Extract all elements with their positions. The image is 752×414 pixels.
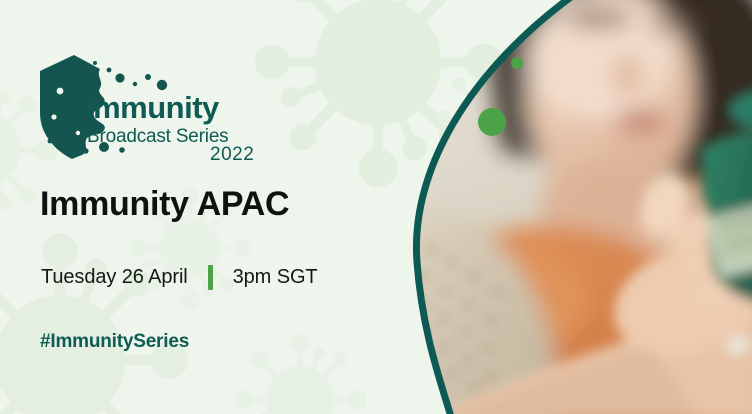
logo-year: 2022 (210, 144, 254, 160)
webinar-promo-banner: Immunity Broadcast Series 2022 Immunity … (0, 0, 752, 414)
event-meta-row: Tuesday 26 April 3pm SGT (41, 262, 318, 292)
logo-wordmark: Immunity (85, 90, 220, 125)
page-title: Immunity APAC (40, 186, 289, 223)
meta-divider (208, 265, 213, 290)
event-time: 3pm SGT (233, 266, 318, 289)
banner-content: Immunity Broadcast Series 2022 Immunity … (0, 0, 752, 414)
logo-subtitle: Broadcast Series (87, 126, 228, 147)
event-hashtag: #ImmunitySeries (40, 331, 189, 353)
event-date: Tuesday 26 April (41, 266, 188, 289)
immunity-broadcast-series-logo: Immunity Broadcast Series 2022 (38, 55, 288, 160)
